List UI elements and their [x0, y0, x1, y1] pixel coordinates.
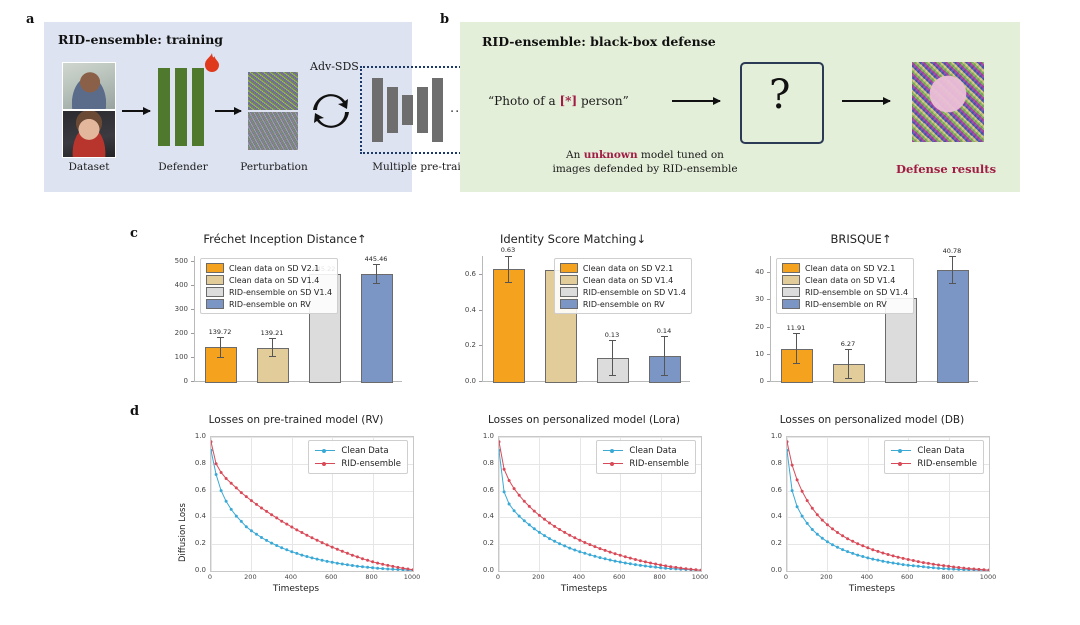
chart-title: Losses on pre-trained model (RV) — [170, 414, 422, 426]
y-tick-label: 40 — [736, 268, 764, 276]
chart-legend: Clean DataRID-ensemble — [596, 440, 696, 474]
panel-letter-d: d — [130, 404, 139, 419]
unknown-model-box: ? — [740, 62, 824, 144]
prompt-text: “Photo of a [*] person” — [488, 94, 629, 108]
legend-swatch — [782, 287, 800, 297]
y-tick-label: 1.0 — [760, 432, 782, 440]
y-tick-label: 0.0 — [448, 377, 476, 385]
panel-b-title: RID-ensemble: black-box defense — [482, 34, 716, 49]
chart-legend: Clean DataRID-ensemble — [884, 440, 984, 474]
legend-line-marker — [603, 463, 623, 464]
x-tick-label: 1000 — [686, 573, 714, 581]
y-tick-label: 0 — [736, 377, 764, 385]
x-tick-label: 800 — [358, 573, 386, 581]
panel-a-training: RID-ensemble: training Dataset Defender … — [44, 22, 412, 192]
y-tick-label: 400 — [160, 281, 188, 289]
grid-line-vertical — [701, 437, 702, 571]
prompt-prefix: “Photo of a — [488, 94, 559, 108]
legend-label: RID-ensemble — [629, 459, 689, 469]
legend-label: Clean Data — [917, 446, 964, 456]
model-bar-3 — [402, 95, 413, 125]
legend-item: RID-ensemble — [891, 457, 977, 470]
y-tick-label: 0.6 — [472, 486, 494, 494]
chart-losses-pretrained-rv: Losses on pre-trained model (RV)02004006… — [170, 412, 422, 612]
x-tick-label: 400 — [565, 573, 593, 581]
legend-item: RID-ensemble on SD V1.4 — [782, 286, 908, 298]
legend-swatch — [206, 299, 224, 309]
legend-line-marker — [603, 450, 623, 451]
legend-swatch — [206, 263, 224, 273]
y-tick-mark — [479, 345, 482, 346]
panel-b-defense: RID-ensemble: black-box defense “Photo o… — [460, 22, 1020, 192]
legend-item: RID-ensemble on SD V1.4 — [560, 286, 686, 298]
y-tick-label: 1.0 — [184, 432, 206, 440]
panel-a-title: RID-ensemble: training — [58, 32, 223, 47]
legend-item: Clean Data — [891, 444, 977, 457]
y-tick-mark — [191, 357, 194, 358]
error-bar — [376, 264, 377, 284]
x-tick-label: 600 — [317, 573, 345, 581]
legend-label: Clean data on SD V2.1 — [229, 264, 319, 273]
defender-block-1 — [158, 68, 170, 146]
legend-line-marker — [315, 450, 335, 451]
chart-legend: Clean data on SD V2.1Clean data on SD V1… — [554, 258, 692, 314]
y-tick-label: 30 — [736, 295, 764, 303]
legend-item: RID-ensemble on RV — [560, 298, 686, 310]
legend-label: RID-ensemble — [917, 459, 977, 469]
dataset-face-image-1 — [62, 62, 116, 110]
y-tick-mark — [479, 381, 482, 382]
error-bar — [508, 256, 509, 283]
legend-label: Clean data on SD V1.4 — [805, 276, 895, 285]
y-tick-label: 0.0 — [760, 566, 782, 574]
chart-title: Losses on personalized model (Lora) — [458, 414, 710, 426]
y-tick-label: 500 — [160, 257, 188, 265]
y-tick-label: 300 — [160, 305, 188, 313]
y-axis — [194, 256, 195, 381]
x-axis-label: Timesteps — [746, 584, 998, 594]
y-tick-label: 200 — [160, 329, 188, 337]
grid-line-horizontal — [499, 571, 701, 572]
y-tick-mark — [767, 272, 770, 273]
legend-label: RID-ensemble on RV — [583, 300, 665, 309]
x-tick-label: 600 — [605, 573, 633, 581]
caption-prefix: An — [566, 149, 584, 161]
chart-title: Losses on personalized model (DB) — [746, 414, 998, 426]
perturbation-image-2 — [248, 112, 298, 150]
legend-item: Clean data on SD V1.4 — [206, 274, 332, 286]
legend-swatch — [560, 275, 578, 285]
x-tick-label: 800 — [934, 573, 962, 581]
chart-legend: Clean data on SD V2.1Clean data on SD V1… — [200, 258, 338, 314]
legend-item: Clean data on SD V2.1 — [560, 262, 686, 274]
grid-line-vertical — [413, 437, 414, 571]
legend-swatch — [206, 275, 224, 285]
panel-letter-b: b — [440, 12, 449, 27]
y-tick-label: 100 — [160, 353, 188, 361]
chart-title: Fréchet Inception Distance↑ — [160, 232, 410, 246]
grid-line-horizontal — [211, 571, 413, 572]
arrow-prompt-to-model — [672, 100, 720, 102]
bar-value-label: 0.13 — [585, 331, 639, 339]
panel-letter-a: a — [26, 12, 34, 27]
y-tick-label: 0.4 — [472, 512, 494, 520]
legend-label: Clean data on SD V2.1 — [583, 264, 673, 273]
y-tick-mark — [191, 285, 194, 286]
chart-frechet-inception-distance: Fréchet Inception Distance↑0100200300400… — [160, 230, 410, 395]
legend-label: RID-ensemble on RV — [229, 300, 311, 309]
y-tick-label: 0.8 — [760, 459, 782, 467]
caption-unknown: unknown — [584, 149, 638, 161]
caption-line-2: images defended by RID-ensemble — [552, 163, 737, 175]
dataset-face-image-2 — [62, 110, 116, 158]
y-tick-label: 0.6 — [448, 270, 476, 278]
y-tick-label: 0.8 — [184, 459, 206, 467]
legend-swatch — [206, 287, 224, 297]
legend-label: Clean data on SD V2.1 — [805, 264, 895, 273]
y-tick-label: 0.8 — [472, 459, 494, 467]
x-tick-label: 400 — [277, 573, 305, 581]
legend-label: Clean Data — [629, 446, 676, 456]
stage-label-perturbation: Perturbation — [236, 161, 312, 173]
bar-value-label: 11.91 — [769, 324, 823, 332]
bar — [493, 269, 525, 384]
legend-item: RID-ensemble on RV — [206, 298, 332, 310]
error-bar — [220, 337, 221, 357]
chart-legend: Clean data on SD V2.1Clean data on SD V1… — [776, 258, 914, 314]
arrow-defender-to-perturbation — [215, 110, 241, 112]
error-bar — [796, 333, 797, 365]
arrow-dataset-to-defender — [122, 110, 150, 112]
panel-b-caption: An unknown model tuned on images defende… — [480, 148, 810, 176]
y-tick-mark — [767, 299, 770, 300]
y-tick-label: 0 — [160, 377, 188, 385]
error-bar — [848, 349, 849, 378]
defense-result-image — [912, 62, 984, 142]
prompt-token: [*] — [559, 94, 577, 108]
chart-identity-score-matching: Identity Score Matching↓0.00.20.40.60.63… — [448, 230, 698, 395]
x-tick-label: 0 — [196, 573, 224, 581]
legend-line-marker — [315, 463, 335, 464]
legend-swatch — [560, 287, 578, 297]
chart-title: BRISQUE↑ — [736, 232, 986, 246]
y-axis — [770, 256, 771, 381]
chart-losses-lora: Losses on personalized model (Lora)02004… — [458, 412, 710, 612]
question-mark-icon: ? — [769, 72, 790, 118]
flame-icon — [203, 52, 221, 74]
stage-label-dataset: Dataset — [52, 161, 126, 173]
perturbation-image-1 — [248, 72, 298, 110]
y-tick-mark — [191, 309, 194, 310]
bar-value-label: 0.63 — [481, 246, 535, 254]
prompt-suffix: person” — [577, 94, 629, 108]
legend-line-marker — [891, 463, 911, 464]
y-tick-label: 1.0 — [472, 432, 494, 440]
x-tick-label: 600 — [893, 573, 921, 581]
legend-item: Clean data on SD V1.4 — [782, 274, 908, 286]
x-tick-label: 0 — [772, 573, 800, 581]
legend-item: Clean Data — [315, 444, 401, 457]
legend-label: RID-ensemble on SD V1.4 — [229, 288, 332, 297]
x-tick-label: 400 — [853, 573, 881, 581]
legend-item: RID-ensemble on SD V1.4 — [206, 286, 332, 298]
x-axis-label: Timesteps — [458, 584, 710, 594]
x-tick-label: 200 — [812, 573, 840, 581]
y-tick-mark — [479, 274, 482, 275]
chart-title: Identity Score Matching↓ — [448, 232, 698, 246]
y-tick-label: 0.6 — [760, 486, 782, 494]
legend-item: Clean data on SD V2.1 — [206, 262, 332, 274]
model-bar-4 — [417, 87, 428, 133]
error-bar — [612, 340, 613, 376]
x-tick-label: 1000 — [398, 573, 426, 581]
chart-legend: Clean DataRID-ensemble — [308, 440, 408, 474]
legend-line-marker — [891, 450, 911, 451]
error-bar — [272, 338, 273, 356]
y-tick-label: 0.0 — [472, 566, 494, 574]
y-tick-mark — [191, 381, 194, 382]
legend-item: Clean Data — [603, 444, 689, 457]
x-tick-label: 200 — [236, 573, 264, 581]
y-tick-label: 0.6 — [184, 486, 206, 494]
bar-value-label: 139.21 — [245, 329, 299, 337]
x-axis-label: Timesteps — [170, 584, 422, 594]
legend-label: Clean Data — [341, 446, 388, 456]
error-bar — [952, 256, 953, 284]
y-tick-mark — [767, 354, 770, 355]
error-bar — [664, 336, 665, 375]
x-tick-label: 1000 — [974, 573, 1002, 581]
model-bar-1 — [372, 78, 383, 142]
bar-value-label: 0.14 — [637, 327, 691, 335]
caption-suffix: model tuned on — [638, 149, 724, 161]
y-tick-label: 0.0 — [184, 566, 206, 574]
legend-label: Clean data on SD V1.4 — [229, 276, 319, 285]
legend-swatch — [560, 299, 578, 309]
y-axis-label: Diffusion Loss — [178, 503, 188, 562]
x-tick-label: 200 — [524, 573, 552, 581]
defender-block-2 — [175, 68, 187, 146]
y-tick-label: 0.2 — [448, 341, 476, 349]
legend-swatch — [782, 263, 800, 273]
legend-label: RID-ensemble on RV — [805, 300, 887, 309]
bar-value-label: 139.72 — [193, 328, 247, 336]
grid-line-horizontal — [787, 571, 989, 572]
legend-item: Clean data on SD V1.4 — [560, 274, 686, 286]
y-tick-mark — [479, 310, 482, 311]
chart-brisque: BRISQUE↑01020304011.916.2740.78Clean dat… — [736, 230, 986, 395]
bar — [361, 274, 393, 383]
y-tick-mark — [767, 381, 770, 382]
defender-block-3 — [192, 68, 204, 146]
legend-item: RID-ensemble — [603, 457, 689, 470]
y-tick-label: 0.4 — [760, 512, 782, 520]
arrow-model-to-results — [842, 100, 890, 102]
legend-label: RID-ensemble on SD V1.4 — [805, 288, 908, 297]
legend-label: RID-ensemble on SD V1.4 — [583, 288, 686, 297]
y-tick-label: 20 — [736, 323, 764, 331]
y-tick-label: 0.4 — [448, 306, 476, 314]
x-tick-label: 0 — [484, 573, 512, 581]
grid-line-vertical — [989, 437, 990, 571]
panel-letter-c: c — [130, 226, 138, 241]
legend-label: Clean data on SD V1.4 — [583, 276, 673, 285]
legend-swatch — [782, 275, 800, 285]
x-tick-label: 800 — [646, 573, 674, 581]
y-tick-mark — [191, 261, 194, 262]
legend-swatch — [560, 263, 578, 273]
legend-item: RID-ensemble — [315, 457, 401, 470]
legend-item: Clean data on SD V2.1 — [782, 262, 908, 274]
y-axis — [482, 256, 483, 381]
bar-value-label: 445.46 — [349, 255, 403, 263]
adv-sds-label: Adv-SDS — [310, 60, 359, 73]
bar — [937, 270, 969, 383]
legend-swatch — [782, 299, 800, 309]
y-tick-label: 0.2 — [472, 539, 494, 547]
bar-value-label: 40.78 — [925, 247, 979, 255]
defense-results-label: Defense results — [896, 162, 996, 176]
chart-losses-db: Losses on personalized model (DB)0200400… — [746, 412, 998, 612]
model-bar-2 — [387, 87, 398, 133]
bar-value-label: 6.27 — [821, 340, 875, 348]
legend-label: RID-ensemble — [341, 459, 401, 469]
legend-item: RID-ensemble on RV — [782, 298, 908, 310]
y-tick-label: 0.2 — [760, 539, 782, 547]
model-bar-5 — [432, 78, 443, 142]
y-tick-label: 10 — [736, 350, 764, 358]
stage-label-defender: Defender — [146, 161, 220, 173]
cycle-arrows-icon — [310, 90, 352, 130]
